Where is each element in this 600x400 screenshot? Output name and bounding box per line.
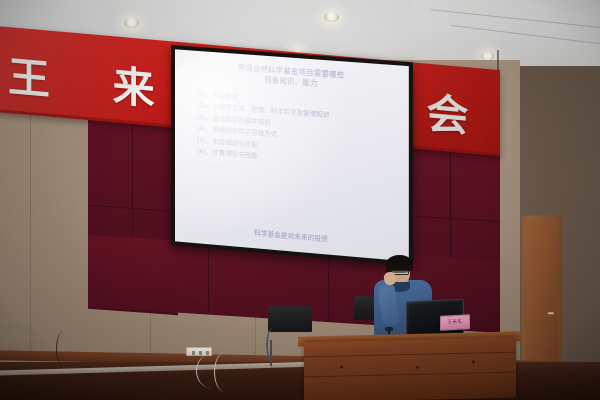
power-cable — [214, 352, 236, 392]
podium-panel-line — [304, 372, 516, 378]
podium-knob — [340, 366, 343, 369]
panel-seam — [88, 205, 178, 213]
outlet-slot — [199, 351, 202, 355]
nameplate-text: 王来生 — [441, 318, 469, 325]
door-slab — [525, 219, 558, 374]
podium-knob — [472, 361, 475, 364]
slide-footer-text: 科学基金是对未来的投资 — [175, 220, 409, 250]
chair-leg — [270, 340, 272, 366]
room-door[interactable] — [521, 214, 562, 375]
podium-desk — [304, 338, 516, 400]
projection-screen-surface: 申请自然科学基金项目需要哪些 预备知识、能力 (1)、专业知识 (2)、工程学方… — [175, 49, 409, 261]
speaker-nameplate: 王来生 — [440, 314, 470, 331]
panel-seam — [328, 250, 329, 322]
outlet-slot — [192, 351, 195, 355]
lecture-hall-photo: 王 来 报 告 会 申请自然科学基金项目需要哪些 预备知识、能力 (1)、专业知… — [0, 0, 600, 400]
projection-screen-frame: 申请自然科学基金项目需要哪些 预备知识、能力 (1)、专业知识 (2)、工程学方… — [171, 45, 413, 266]
door-handle[interactable] — [548, 312, 554, 314]
chair-frame — [266, 328, 280, 362]
podium-knob — [416, 366, 419, 369]
presentation-slide: 申请自然科学基金项目需要哪些 预备知识、能力 (1)、专业知识 (2)、工程学方… — [175, 49, 409, 261]
panel-seam — [208, 243, 209, 315]
chair-shadow-cable — [56, 332, 70, 366]
slide-bullet-list: (1)、专业知识 (2)、工程学方法、管理、科学哲学及管理知识 (3)、自然哲学… — [185, 88, 399, 174]
podium-panel-line — [304, 352, 516, 358]
